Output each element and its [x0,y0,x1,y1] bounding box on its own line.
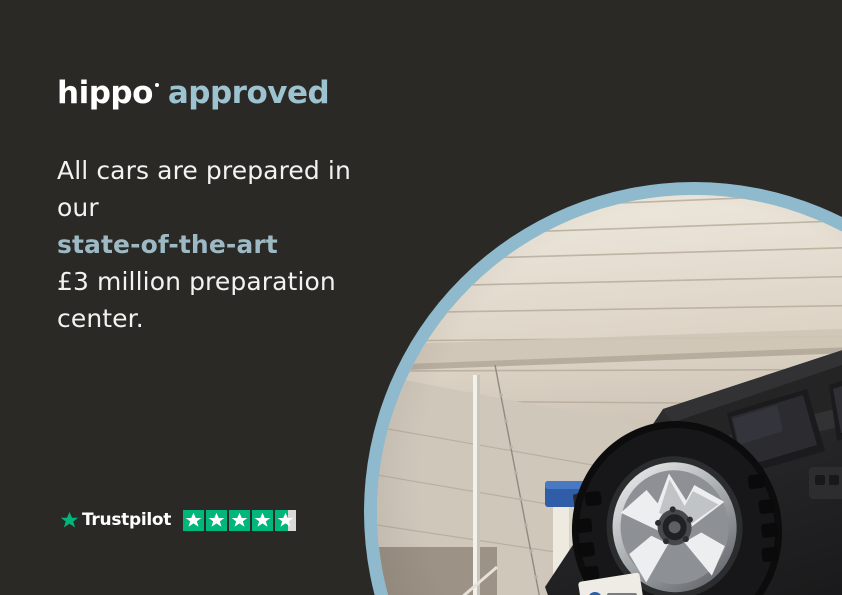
hippo-approved-logo[interactable]: hippo approved [57,78,329,109]
headline-line-2: state-of-the-art [57,226,397,263]
promo-banner: hippo approved All cars are prepared in … [0,0,842,595]
headline-line-4: center. [57,300,397,337]
workshop-photo-artwork [377,195,842,595]
rating-star [252,510,273,531]
trustpilot-wordmark: Trustpilot [82,512,171,529]
workshop-photo [377,195,842,595]
trustpilot-star-row [183,510,296,531]
trustpilot-star-icon [60,511,79,530]
rating-star [206,510,227,531]
headline-line-1: All cars are prepared in our [57,152,397,226]
headline-line-3: £3 million preparation [57,263,397,300]
rating-star [183,510,204,531]
rating-star [229,510,250,531]
logo-word-hippo: hippo [57,78,153,109]
trustpilot-rating[interactable]: Trustpilot [60,508,296,532]
workshop-photo-ring [364,182,842,595]
registered-dot-icon [155,83,159,87]
headline-block: All cars are prepared in our state-of-th… [57,152,397,337]
rating-star-partial [275,510,296,531]
logo-word-approved: approved [168,78,329,109]
